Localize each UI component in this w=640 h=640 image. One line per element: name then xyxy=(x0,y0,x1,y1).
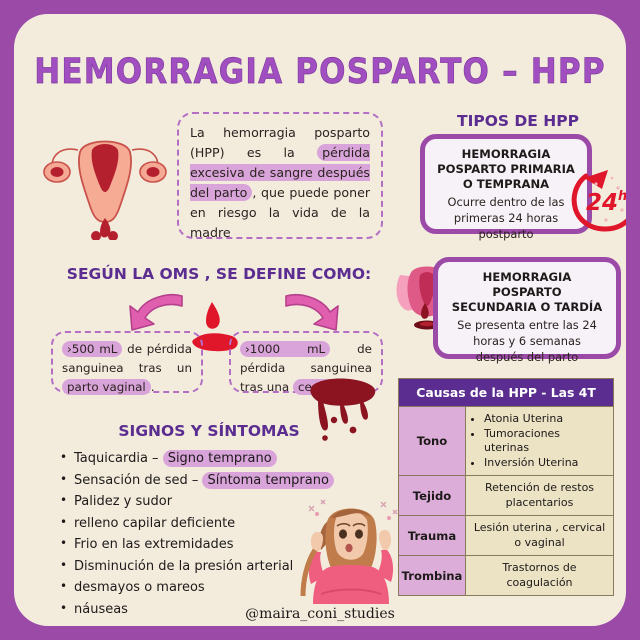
list-item: Tumoraciones uterinas xyxy=(484,427,607,456)
sintoma-tag: Signo temprano xyxy=(163,450,277,467)
sintoma-tag: Síntoma temprano xyxy=(202,472,333,489)
table-row: Trauma Lesión uterina , cervical o vagin… xyxy=(399,516,614,556)
volumen-vaginal-text: ›500 mL de pérdida sanguinea tras un par… xyxy=(62,340,192,397)
list-item: Sensación de sed – Síntoma temprano xyxy=(60,470,360,492)
causas-table: Causas de la HPP - Las 4T Tono Atonia Ut… xyxy=(398,378,614,596)
table-row: Tejido Retención de restos placentarios xyxy=(399,476,614,516)
volumen-vaginal-tail: parto vaginal xyxy=(62,379,151,395)
sintoma-text: Sensación de sed – xyxy=(74,473,202,488)
tipos-heading: TIPOS DE HPP xyxy=(418,112,618,130)
page-title: HEMORRAGIA POSPARTO – HPP xyxy=(14,52,626,92)
sintomas-heading: SIGNOS Y SÍNTOMAS xyxy=(44,422,374,440)
table-value-trombina: Trastornos de coagulación xyxy=(466,556,614,596)
table-label-tejido: Tejido xyxy=(399,476,466,516)
volumen-vaginal-amount: ›500 mL xyxy=(62,341,122,357)
dizzy-woman-illustration xyxy=(297,492,405,604)
tipo-primaria-title: HEMORRAGIA POSPARTO PRIMARIA O TEMPRANA xyxy=(435,147,577,192)
poster-panel: HEMORRAGIA POSPARTO – HPP La hemorragia … xyxy=(14,14,626,626)
oms-heading: SEGÚN LA OMS , SE DEFINE COMO: xyxy=(44,265,394,283)
table-header: Causas de la HPP - Las 4T xyxy=(399,379,614,407)
table-label-trauma: Trauma xyxy=(399,516,466,556)
table-value-trauma: Lesión uterina , cervical o vaginal xyxy=(466,516,614,556)
table-row: Tono Atonia Uterina Tumoraciones uterina… xyxy=(399,407,614,476)
24h-clock-icon: 24 h xyxy=(566,162,626,238)
tipo-secundaria-body: Se presenta entre las 24 horas y 6 seman… xyxy=(448,317,606,365)
poster-frame: HEMORRAGIA POSPARTO – HPP La hemorragia … xyxy=(0,0,640,640)
table-row: Trombina Trastornos de coagulación xyxy=(399,556,614,596)
volumen-vaginal-suffix: . xyxy=(151,380,155,394)
uterus-illustration xyxy=(40,110,170,240)
volumen-cesarea-amount: ›1000 mL xyxy=(240,341,330,357)
volumen-vaginal-box: ›500 mL de pérdida sanguinea tras un par… xyxy=(51,331,203,393)
table-value-tejido: Retención de restos placentarios xyxy=(466,476,614,516)
tipo-secundaria-title: HEMORRAGIA POSPARTO SECUNDARIA O TARDÍA xyxy=(448,270,606,315)
list-item: Taquicardia – Signo temprano xyxy=(60,448,360,470)
table-value-tono: Atonia Uterina Tumoraciones uterinas Inv… xyxy=(466,407,614,476)
definition-text: La hemorragia posparto (HPP) es la pérdi… xyxy=(190,123,370,243)
24h-badge-number: 24 xyxy=(586,190,618,216)
tipo-primaria-body: Ocurre dentro de las primeras 24 horas p… xyxy=(435,194,577,242)
list-item: Inversión Uterina xyxy=(484,456,607,471)
list-item: Atonia Uterina xyxy=(484,412,607,427)
table-label-trombina: Trombina xyxy=(399,556,466,596)
tipo-secundaria-box: HEMORRAGIA POSPARTO SECUNDARIA O TARDÍA … xyxy=(433,257,621,359)
definition-box: La hemorragia posparto (HPP) es la pérdi… xyxy=(177,112,383,239)
sintoma-text: Taquicardia – xyxy=(74,451,163,466)
24h-badge-unit: h xyxy=(618,189,626,204)
table-label-tono: Tono xyxy=(399,407,466,476)
table-header-row: Causas de la HPP - Las 4T xyxy=(399,379,614,407)
author-handle: @maira_coni_studies xyxy=(14,606,626,622)
tono-bullets: Atonia Uterina Tumoraciones uterinas Inv… xyxy=(472,412,607,470)
